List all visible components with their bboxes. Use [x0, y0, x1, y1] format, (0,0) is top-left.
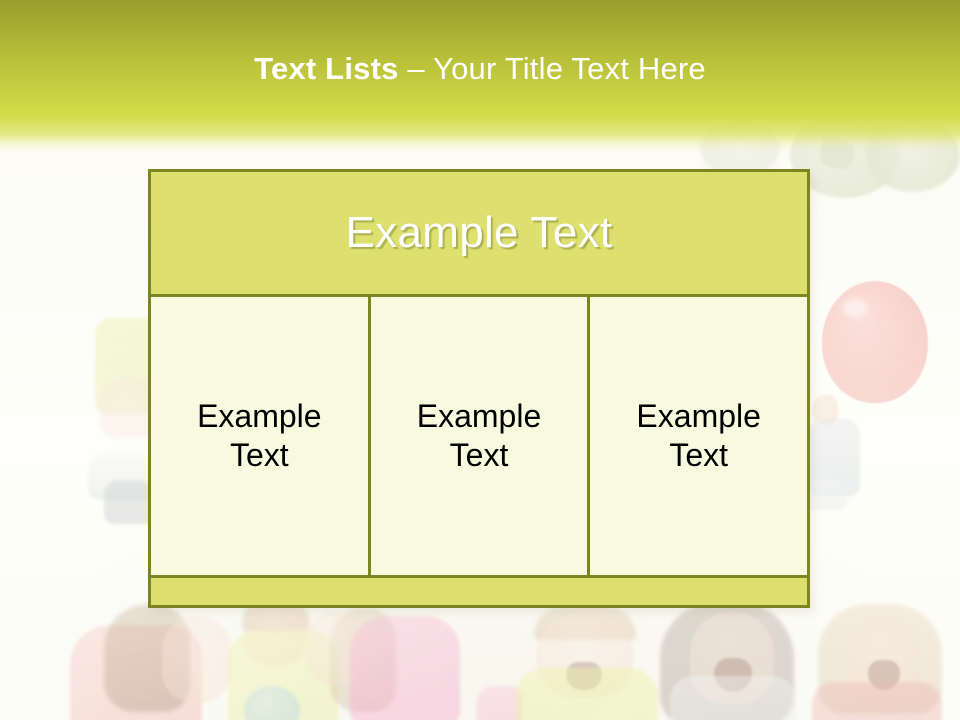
table-cell-1-label: Example Text [181, 397, 337, 475]
table-header-row[interactable]: Example Text [151, 172, 807, 297]
page-title: Text Lists – Your Title Text Here [0, 52, 960, 86]
table-cell-3[interactable]: Example Text [587, 297, 807, 575]
slide: Text Lists – Your Title Text Here Exampl… [0, 0, 960, 720]
table-cell-2-label: Example Text [401, 397, 557, 475]
bottom-right-child-a-shirt [516, 668, 658, 720]
table-cell-2[interactable]: Example Text [368, 297, 588, 575]
table-header-label: Example Text [346, 211, 613, 255]
balloon-icon [822, 281, 928, 403]
table-footer-row[interactable] [151, 575, 807, 605]
table-cell-3-label: Example Text [621, 397, 777, 475]
bottom-right-child-c-shirt [812, 682, 942, 720]
bottom-right-child-b-shirt [670, 676, 796, 720]
bottom-left-child-a-face [162, 616, 232, 702]
page-title-rest: – Your Title Text Here [399, 51, 706, 86]
bottom-left-child-c-jacket [350, 616, 460, 720]
table-cell-1[interactable]: Example Text [151, 297, 368, 575]
text-list-table: Example Text Example Text Example Text E… [148, 169, 810, 608]
page-title-strong: Text Lists [254, 51, 398, 86]
table-body-row: Example Text Example Text Example Text [151, 297, 807, 575]
